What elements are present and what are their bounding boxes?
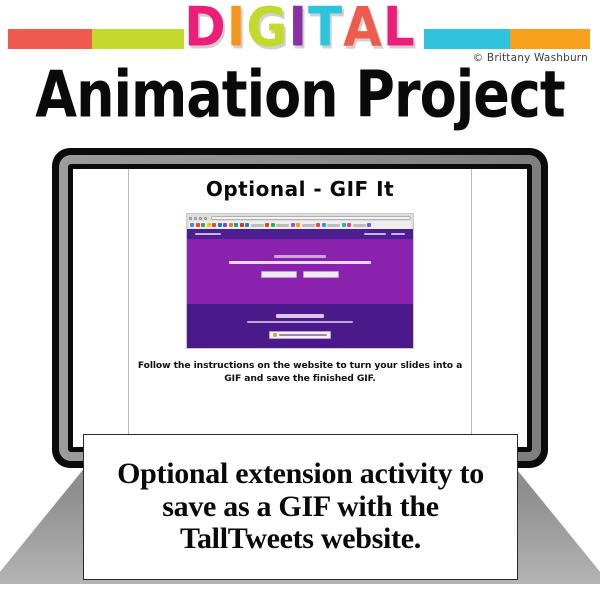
hero-button-group [261, 271, 339, 278]
laptop-screen-frame: Optional - GIF It [68, 164, 532, 452]
poster-page: DIGITAL © Brittany Washburn Animation Pr… [0, 0, 600, 600]
hero-eyebrow-text [274, 255, 326, 258]
presentation-slide: Optional - GIF It [129, 169, 471, 447]
hero-headline-text [229, 261, 371, 264]
bookmark-favicon[interactable] [223, 223, 227, 227]
laptop-screen: Optional - GIF It [73, 169, 527, 447]
browser-screenshot [186, 213, 414, 349]
kicker-letter-4: T [308, 0, 343, 54]
kicker-letter-6: L [383, 0, 416, 54]
bookmark-label[interactable] [353, 224, 366, 227]
bookmark-favicon[interactable] [316, 223, 320, 227]
poster-header: DIGITAL © Brittany Washburn Animation Pr… [0, 0, 600, 135]
bookmark-favicon[interactable] [271, 223, 275, 227]
bookmark-favicon[interactable] [291, 223, 295, 227]
bookmark-favicon[interactable] [229, 223, 233, 227]
bookmark-favicon[interactable] [296, 223, 300, 227]
site-classic-section [187, 304, 413, 348]
bookmark-favicon[interactable] [265, 223, 269, 227]
reload-icon [199, 217, 202, 220]
kicker-letter-5: A [343, 0, 383, 54]
slide-title: Optional - GIF It [206, 177, 394, 201]
bookmark-favicon[interactable] [322, 223, 326, 227]
browser-bookmarks-bar [189, 221, 411, 229]
kicker-word-digital: DIGITAL [0, 2, 600, 52]
slide-instructions: Follow the instructions on the website t… [137, 359, 463, 386]
hero-primary-button[interactable] [261, 271, 297, 278]
caption-box: Optional extension activity to save as a… [83, 434, 518, 580]
back-icon [189, 217, 192, 220]
kicker-letter-1: I [227, 0, 247, 54]
bookmark-favicon[interactable] [212, 223, 216, 227]
browser-chrome [187, 214, 413, 229]
bookmark-label[interactable] [251, 224, 264, 227]
bookmark-favicon[interactable] [190, 223, 194, 227]
caption-text: Optional extension activity to save as a… [94, 458, 507, 555]
bookmark-favicon[interactable] [218, 223, 222, 227]
bookmark-favicon[interactable] [196, 223, 200, 227]
kicker-letter-2: G [246, 0, 288, 54]
browser-address-bar [211, 216, 411, 220]
bookmark-favicon[interactable] [234, 223, 238, 227]
section-button-label [279, 334, 327, 336]
bookmark-label[interactable] [302, 224, 315, 227]
kicker-letter-3: I [288, 0, 308, 54]
site-navbar [187, 229, 413, 239]
section-signin-button[interactable] [269, 331, 331, 339]
page-title: Animation Project [0, 62, 600, 129]
laptop-bezel: Optional - GIF It [59, 155, 541, 461]
google-icon [273, 333, 277, 337]
bookmark-favicon[interactable] [207, 223, 211, 227]
section-body-text [247, 321, 353, 324]
slide-gutter-right [471, 169, 527, 447]
forward-icon [194, 217, 197, 220]
kicker-letter-0: D [184, 0, 227, 54]
site-hero-section [187, 239, 413, 288]
bookmark-favicon[interactable] [347, 223, 351, 227]
site-nav-link [391, 233, 405, 236]
home-icon [204, 217, 207, 220]
site-logo [195, 233, 221, 236]
bookmark-favicon[interactable] [245, 223, 249, 227]
hero-spacer [187, 288, 413, 304]
laptop-lid: Optional - GIF It [52, 148, 548, 468]
bookmark-label[interactable] [276, 224, 289, 227]
bookmark-favicon[interactable] [342, 223, 346, 227]
slide-gutter-left [73, 169, 129, 447]
section-heading-text [276, 314, 324, 318]
site-nav-link [364, 233, 386, 236]
bookmark-label[interactable] [327, 224, 340, 227]
bookmark-favicon[interactable] [367, 223, 371, 227]
bookmark-favicon[interactable] [201, 223, 205, 227]
hero-secondary-button[interactable] [303, 271, 339, 278]
bookmark-favicon[interactable] [240, 223, 244, 227]
